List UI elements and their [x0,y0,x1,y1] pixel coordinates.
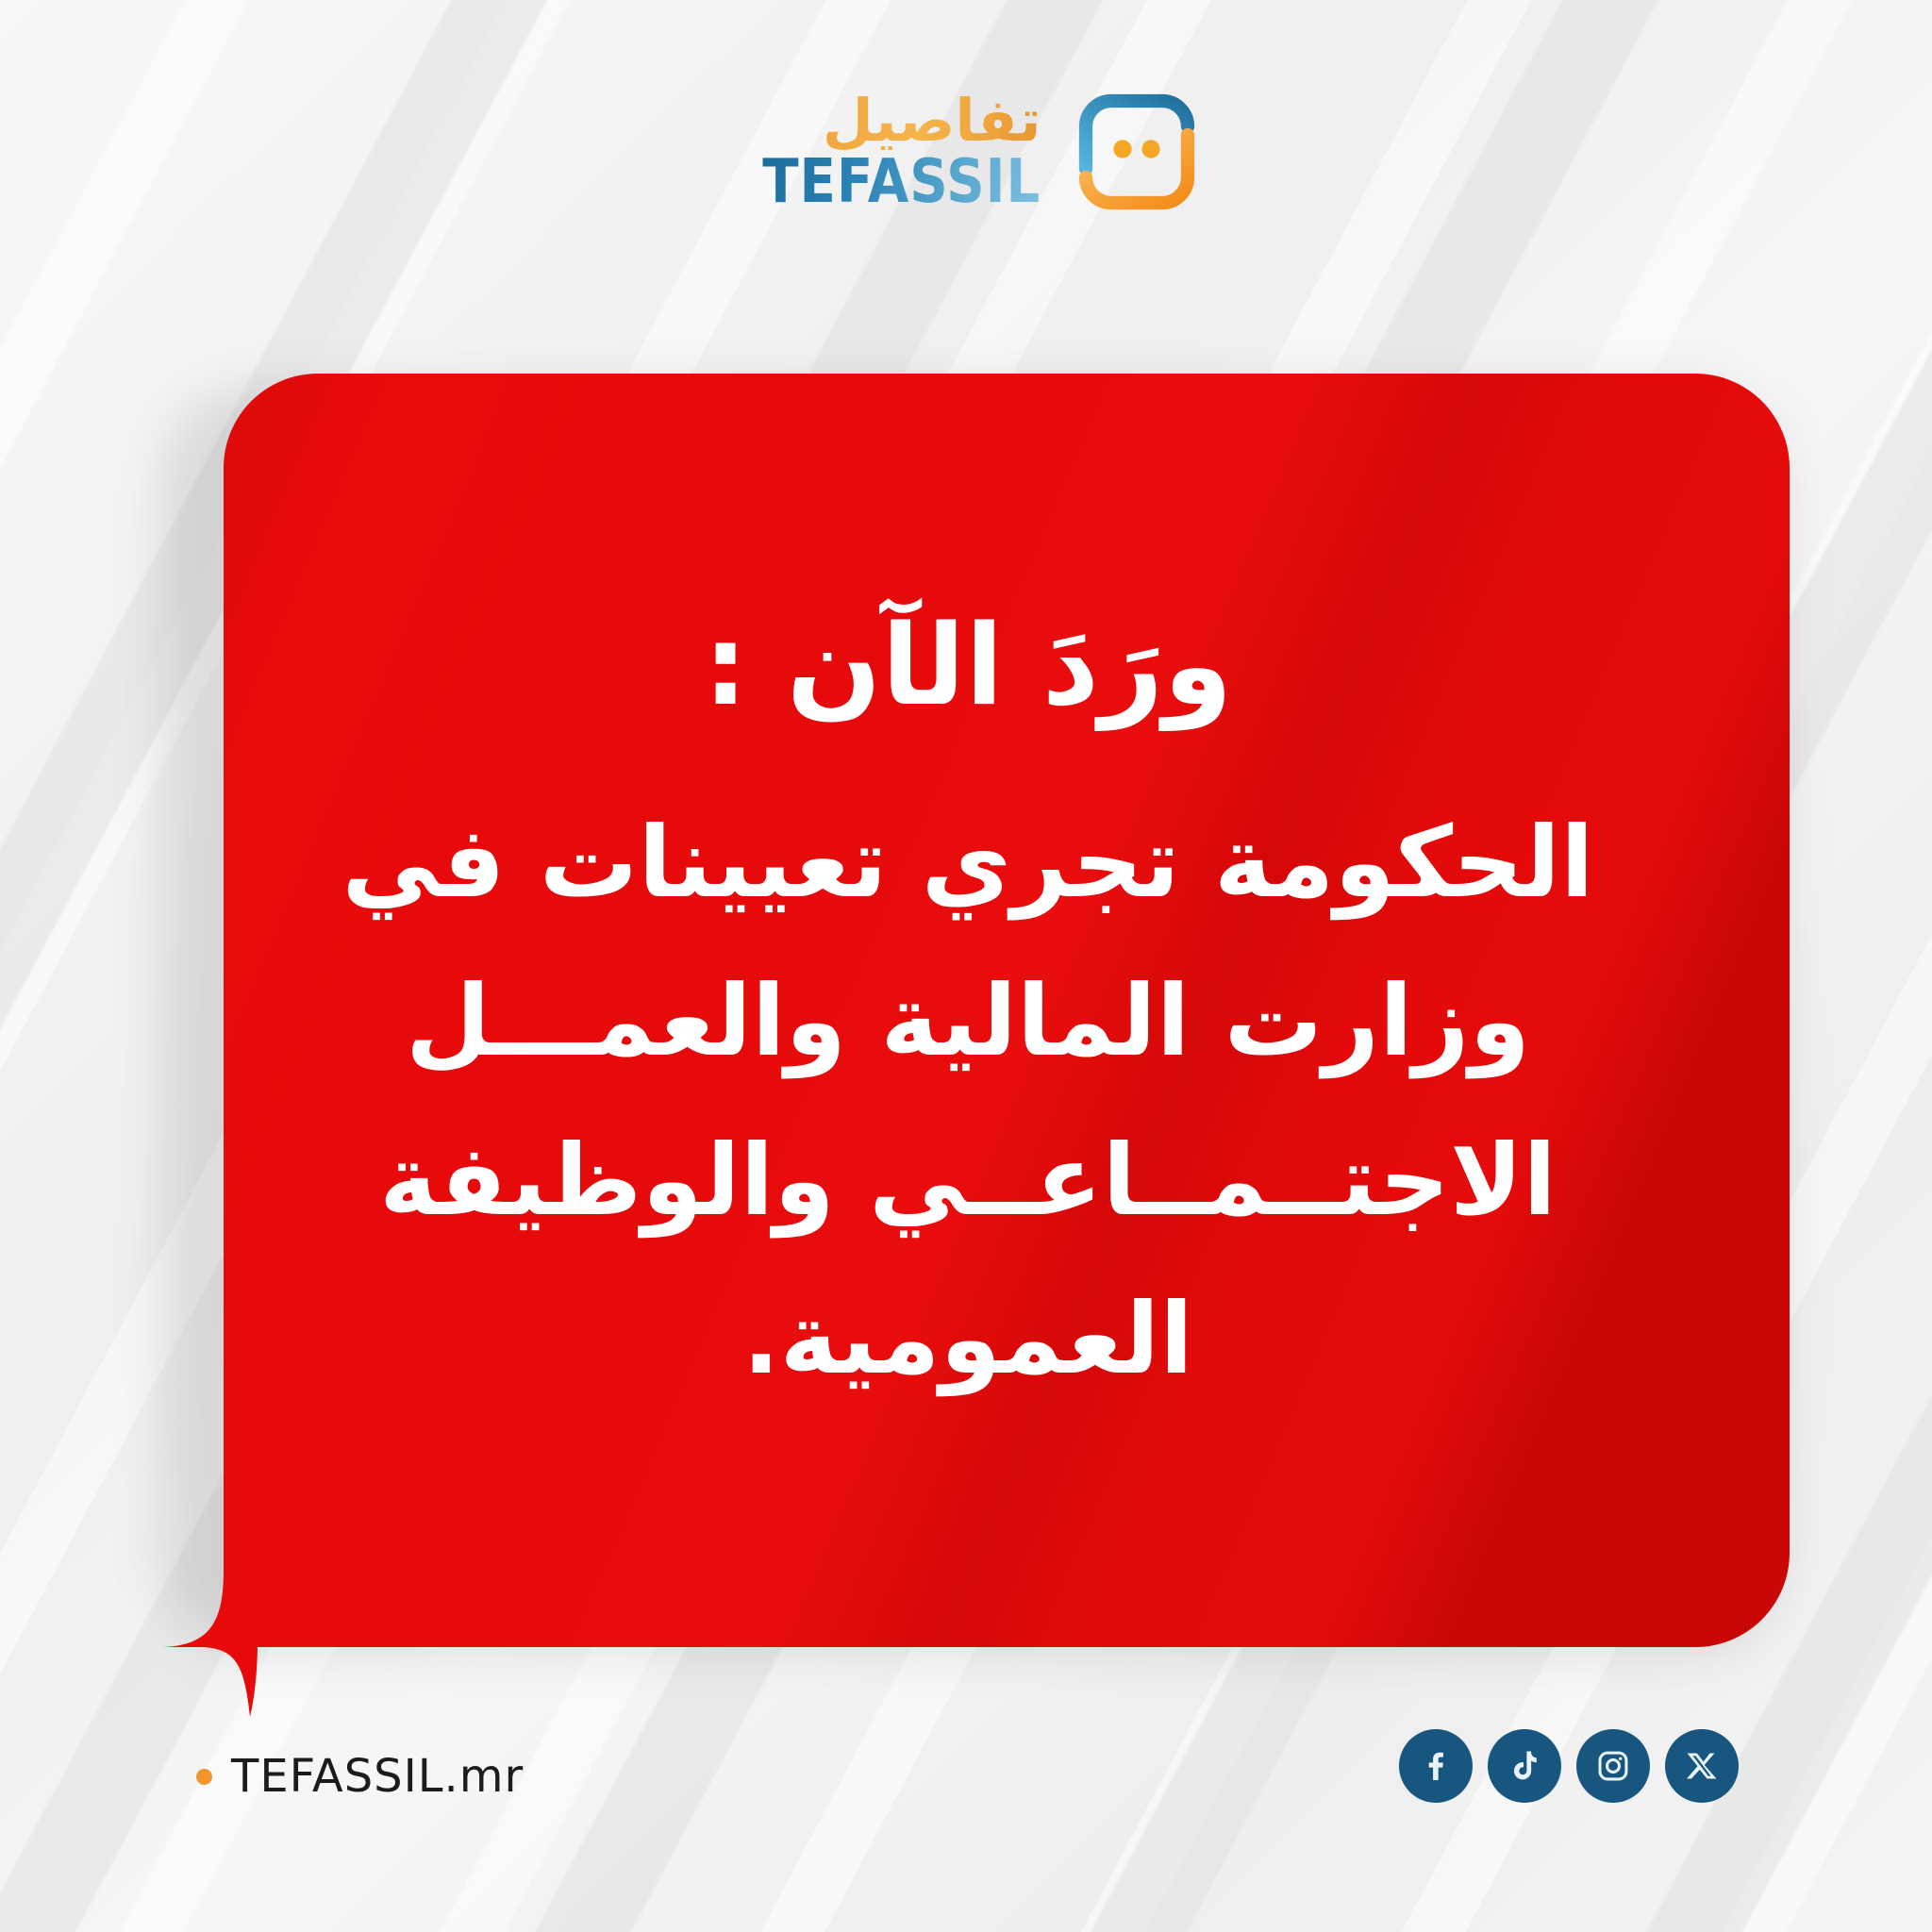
tiktok-icon[interactable] [1488,1729,1561,1803]
announcement-body-line-3: الاجتــمــاعــي والوظيفة [184,1101,1752,1259]
announcement-headline: ورَدَ الآن : [704,602,1233,730]
poster-canvas: تفاصيل TEFASSIL [0,0,1932,1932]
footer-website-label: TEFASSIL.mr [231,1750,524,1803]
announcement-body-line-1: الحكومة تجري تعيينات في [184,783,1752,941]
social-links [1399,1729,1739,1803]
x-twitter-icon[interactable] [1665,1729,1739,1803]
tefassil-chat-bubble-mark-icon [1066,81,1207,223]
facebook-icon[interactable] [1399,1729,1473,1803]
announcement-body-line-4: العمومية. [184,1259,1752,1418]
announcement-content: ورَدَ الآن : الحكومة تجري تعيينات في وزا… [146,374,1790,1647]
brand-logo-text: تفاصيل TEFASSIL [724,92,1041,212]
brand-logo-latin: TEFASSIL [763,152,1041,212]
instagram-icon[interactable] [1576,1729,1650,1803]
announcement-body-line-2: وزارت المالية والعمـــل [184,941,1752,1100]
brand-logo: تفاصيل TEFASSIL [0,81,1932,223]
brand-logo-arabic: تفاصيل [823,92,1041,150]
footer-website[interactable]: TEFASSIL.mr [196,1750,524,1803]
announcement-body: الحكومة تجري تعيينات في وزارت المالية وا… [184,783,1752,1419]
bullet-dot-icon [196,1769,212,1785]
